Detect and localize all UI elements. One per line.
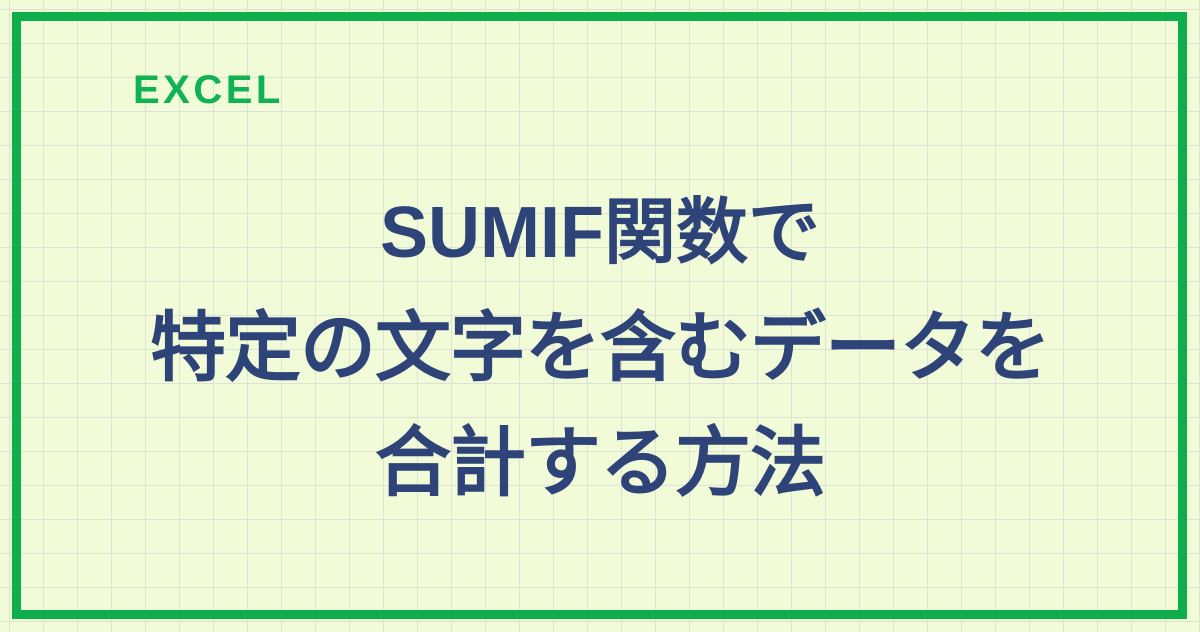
title-line-2: 特定の文字を含むデータを	[0, 291, 1200, 406]
title-line-1: SUMIF関数で	[0, 176, 1200, 291]
title-block: SUMIF関数で 特定の文字を含むデータを 合計する方法	[0, 176, 1200, 521]
title-line-3: 合計する方法	[0, 406, 1200, 521]
category-label-excel: EXCEL	[133, 70, 284, 110]
thumbnail-card: EXCEL SUMIF関数で 特定の文字を含むデータを 合計する方法	[0, 0, 1200, 632]
content-area: EXCEL SUMIF関数で 特定の文字を含むデータを 合計する方法	[0, 0, 1200, 632]
